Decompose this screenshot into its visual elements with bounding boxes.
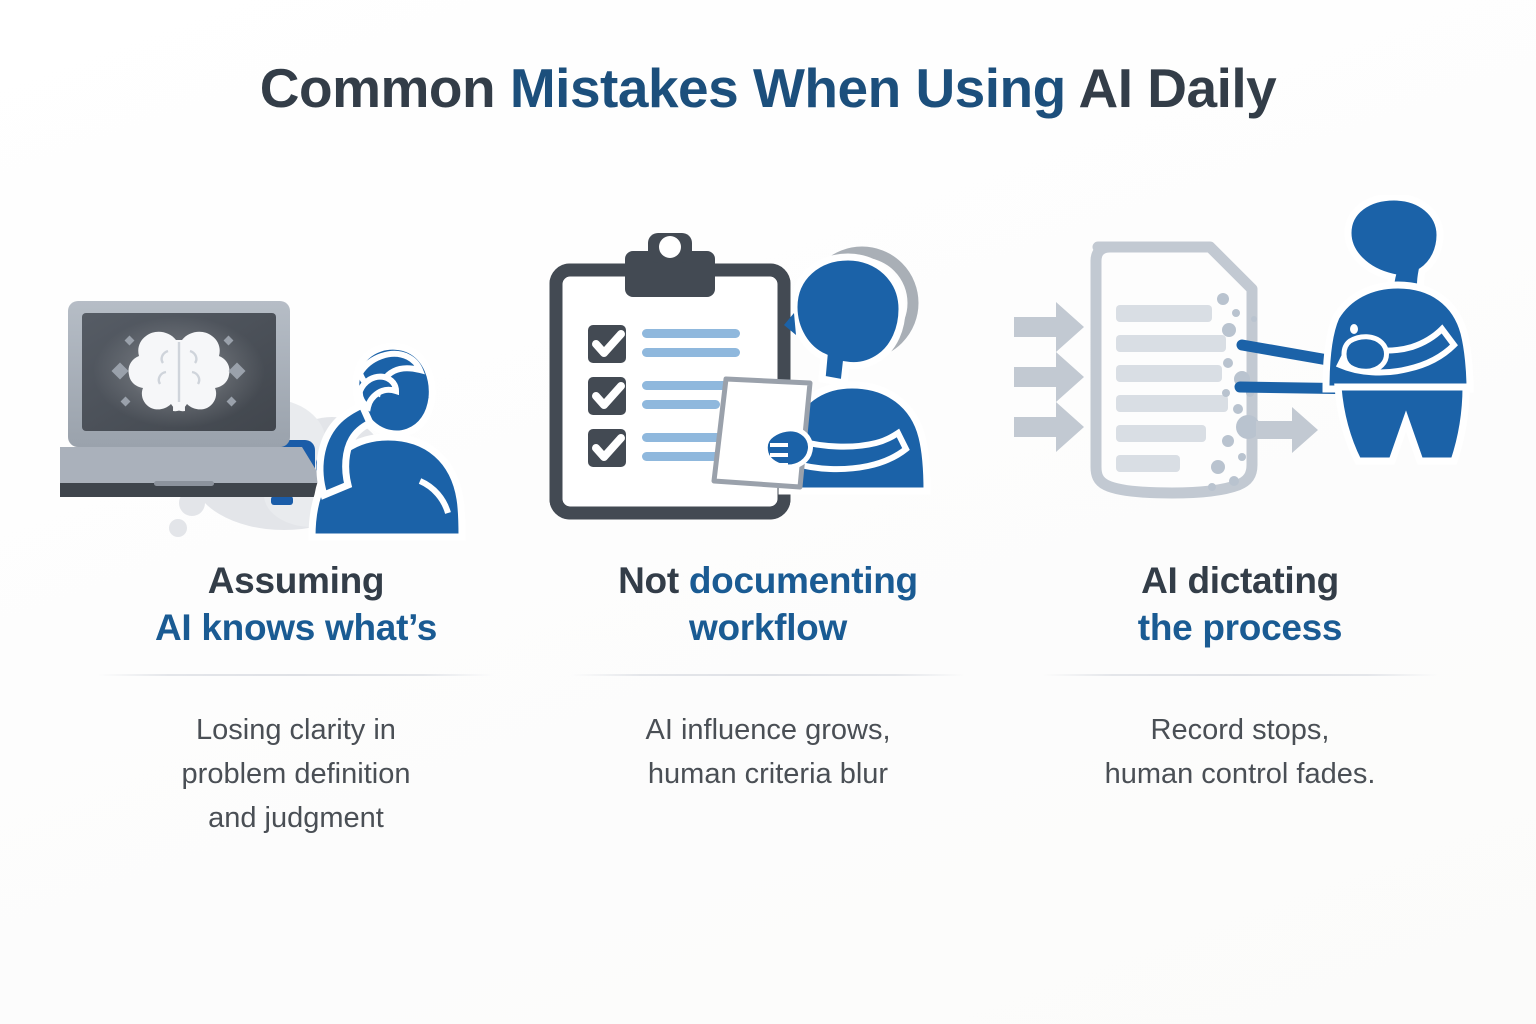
- column-1-body-line-2: problem definition: [182, 752, 411, 796]
- page-title-part-3: AI Daily: [1079, 57, 1277, 119]
- person-pulling-icon: [1326, 197, 1470, 461]
- column-2-heading: Not documenting workflow: [612, 557, 924, 652]
- column-not-documenting-workflow: Not documenting workflow AI influence gr…: [532, 195, 1004, 925]
- dissolving-document-icon: [1096, 247, 1260, 493]
- column-assuming-ai-knows: Assuming AI knows what’s Losing clarity …: [60, 195, 532, 925]
- column-1-heading: Assuming AI knows what’s: [149, 557, 443, 652]
- confused-person-icon: [312, 346, 462, 537]
- columns-container: Assuming AI knows what’s Losing clarity …: [60, 195, 1476, 925]
- page-title-part-2: Mistakes When Using: [510, 57, 1079, 119]
- outgoing-arrow: [1256, 407, 1318, 453]
- laptop-icon: [60, 301, 326, 497]
- page-title-part-1: Common: [260, 57, 510, 119]
- column-2-body: AI influence grows, human criteria blur: [629, 708, 906, 796]
- column-2-body-line-1: AI influence grows,: [645, 708, 890, 752]
- column-2-heading-line2: workflow: [618, 604, 918, 651]
- column-2-heading-line1: Not documenting: [618, 557, 918, 604]
- page-title: Common Mistakes When Using AI Daily: [0, 58, 1536, 119]
- infographic-canvas: Common Mistakes When Using AI Daily: [0, 0, 1536, 1024]
- column-1-heading-line1: Assuming: [155, 557, 437, 604]
- illustration-laptop-brain-confused-person: [60, 195, 532, 555]
- column-3-heading: AI dictating the process: [1132, 557, 1348, 652]
- column-2-heading-dark: Not: [618, 560, 689, 601]
- column-1-body: Losing clarity in problem definition and…: [166, 708, 427, 840]
- column-3-heading-line2: the process: [1138, 604, 1342, 651]
- column-1-body-line-1: Losing clarity in: [182, 708, 411, 752]
- illustration-dissolving-document-arrows-person: [1004, 195, 1476, 555]
- column-1-divider: [98, 674, 494, 676]
- column-3-body: Record stops, human control fades.: [1089, 708, 1392, 796]
- column-1-heading-line2: AI knows what’s: [155, 604, 437, 651]
- column-3-divider: [1042, 674, 1438, 676]
- column-3-body-line-1: Record stops,: [1105, 708, 1376, 752]
- column-2-body-line-2: human criteria blur: [645, 752, 890, 796]
- column-3-heading-line1: AI dictating: [1138, 557, 1342, 604]
- incoming-arrows: [1014, 302, 1084, 452]
- illustration-clipboard-checklist-person-clock: [532, 195, 1004, 555]
- column-3-body-line-2: human control fades.: [1105, 752, 1376, 796]
- column-2-divider: [570, 674, 966, 676]
- column-1-body-line-3: and judgment: [182, 796, 411, 840]
- column-ai-dictating-process: AI dictating the process Record stops, h…: [1004, 195, 1476, 925]
- thought-bubble-dots: [169, 490, 205, 537]
- column-2-heading-blue: documenting: [689, 560, 918, 601]
